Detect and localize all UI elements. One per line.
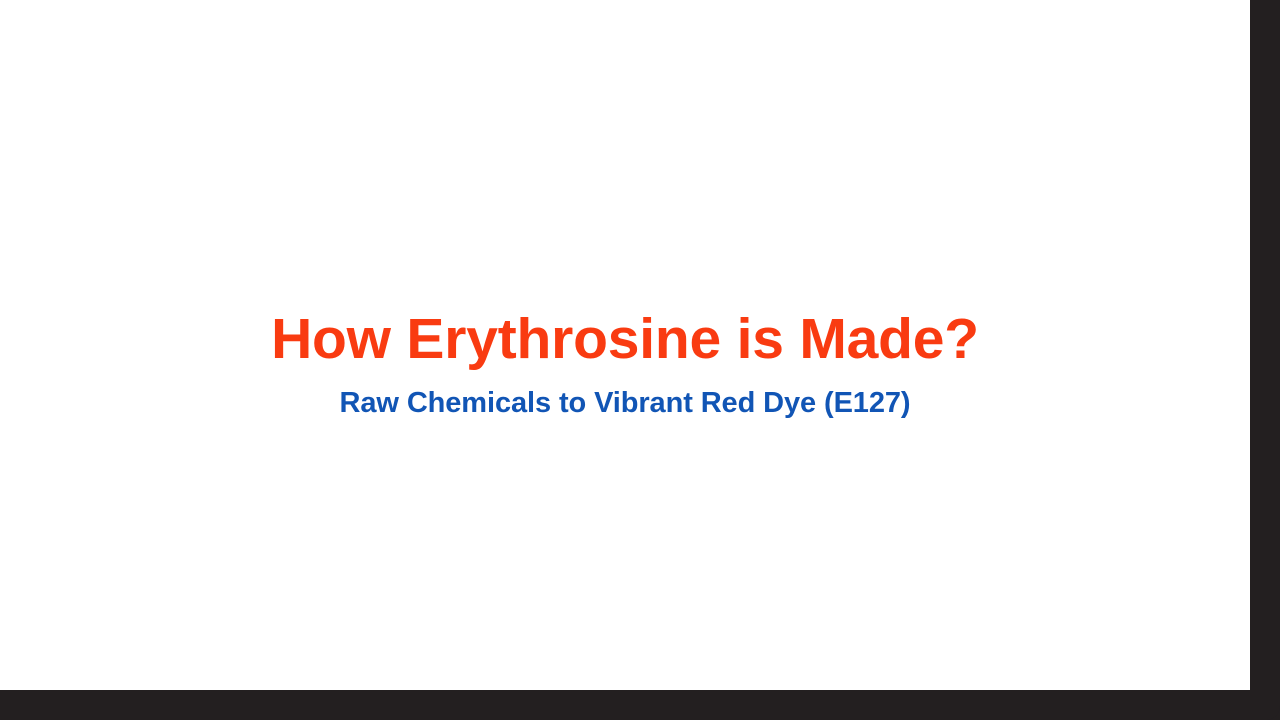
edge-bar-right (1250, 0, 1280, 690)
slide-title: How Erythrosine is Made? (271, 310, 979, 370)
edge-bar-bottom (0, 690, 1280, 720)
slide-subtitle: Raw Chemicals to Vibrant Red Dye (E127) (340, 386, 911, 421)
title-block: How Erythrosine is Made? Raw Chemicals t… (0, 0, 1250, 690)
slide-frame: How Erythrosine is Made? Raw Chemicals t… (0, 0, 1280, 720)
